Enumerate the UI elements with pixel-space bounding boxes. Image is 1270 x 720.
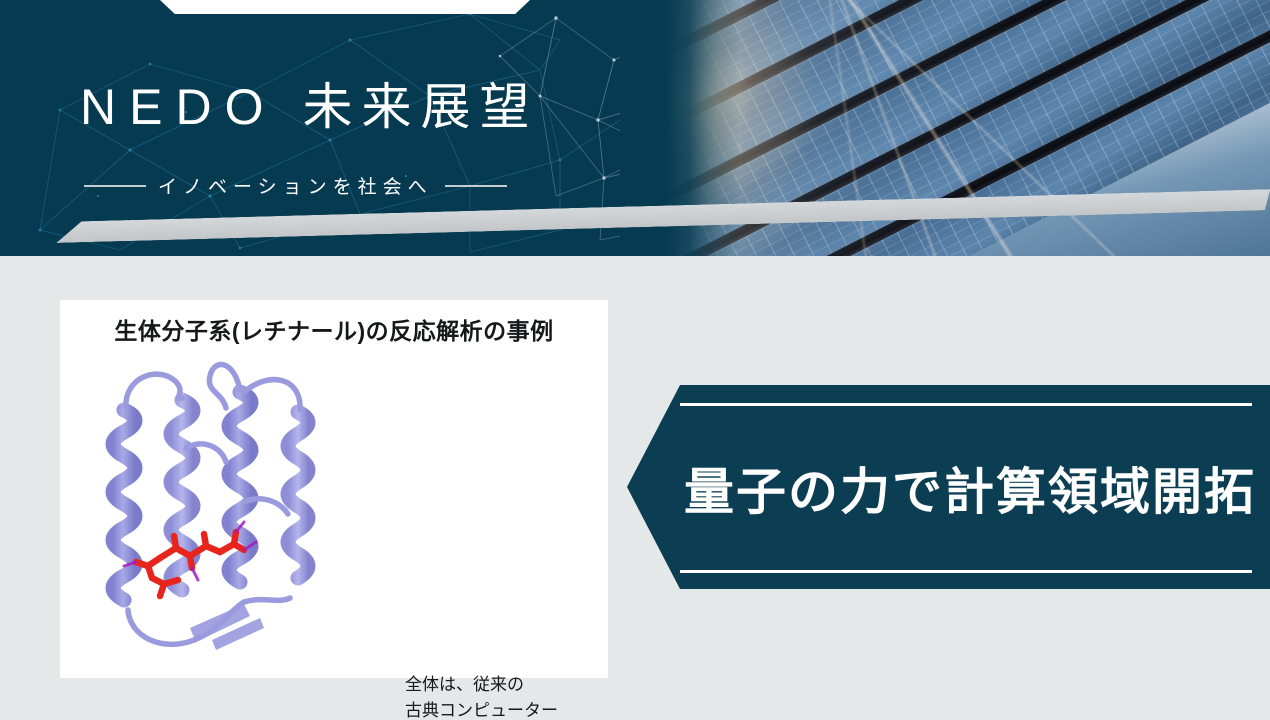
tagline-rule-right <box>445 185 507 187</box>
banner-headline: 量子の力で計算領域開拓 <box>680 440 1260 536</box>
figure-title: 生体分子系(レチナール)の反応解析の事例 <box>60 312 608 346</box>
figure-card: 生体分子系(レチナール)の反応解析の事例 <box>60 300 608 678</box>
slide-root: NEDO 未来展望 イノベーションを社会へ 生体分子系(レチナール)の反応解析の… <box>0 0 1270 720</box>
brand-tagline-row: イノベーションを社会へ <box>84 172 554 199</box>
brand-tagline: イノベーションを社会へ <box>158 172 433 199</box>
tagline-rule-left <box>84 185 146 187</box>
header-top-notch <box>160 0 530 14</box>
brand-title-row: NEDO 未来展望 <box>80 82 538 132</box>
banner-rule-top <box>680 403 1252 406</box>
brand-name-japanese: 未来展望 <box>302 82 538 132</box>
header-banner: NEDO 未来展望 イノベーションを社会へ <box>0 0 1270 256</box>
figure-note-classical: 全体は、従来の 古典コンピューター (スパコン「富岳」)で計算 <box>405 672 595 720</box>
banner-rule-bottom <box>680 570 1252 573</box>
brand-name-nedo: NEDO <box>80 82 276 132</box>
protein-ribbon-illustration <box>94 352 342 662</box>
